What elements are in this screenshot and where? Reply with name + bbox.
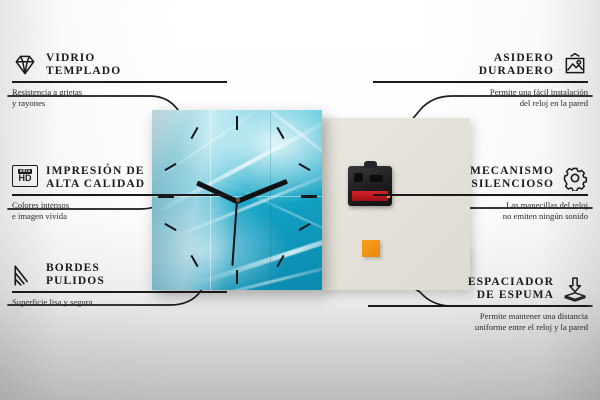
feature-rule [373, 194, 588, 196]
feature-desc-line1: Colores intensos [12, 200, 227, 211]
clock-center-cap [236, 198, 240, 202]
feature-rule [368, 305, 588, 307]
feature-espaciador-de-espuma: ESPACIADOR DE ESPUMA Permite mantener un… [368, 276, 588, 333]
feature-desc-line1: Superficie lisa y segura [12, 297, 227, 308]
feature-title-line2: ALTA CALIDAD [46, 178, 145, 191]
feature-rule [12, 81, 227, 83]
feature-desc-line1: Resistencia a grietas [12, 87, 227, 98]
feature-desc-line1: Permite mantener una distancia [368, 311, 588, 322]
clock-tick [236, 270, 238, 284]
feature-title-line1: ASIDERO [479, 52, 554, 65]
feature-desc-line2: y rayones [12, 98, 227, 109]
feature-title-line1: BORDES [46, 262, 105, 275]
feature-title-line2: PULIDOS [46, 275, 105, 288]
feature-desc-line2: del reloj en la pared [373, 98, 588, 109]
feature-title-line1: ESPACIADOR [468, 276, 554, 289]
ultra-hd-icon: ultraHD [12, 165, 38, 191]
feature-vidrio-templado: VIDRIO TEMPLADO Resistencia a grietas y … [12, 52, 227, 109]
feature-bordes-pulidos: BORDES PULIDOS Superficie lisa y segura [12, 262, 227, 308]
picture-hanger-icon [562, 52, 588, 78]
gear-icon [562, 165, 588, 191]
infographic-stage: VIDRIO TEMPLADO Resistencia a grietas y … [0, 0, 600, 400]
feature-title-line2: DURADERO [479, 65, 554, 78]
second-hand [231, 200, 238, 266]
feature-mecanismo-silencioso: MECANISMO SILENCIOSO Las manecillas del … [373, 165, 588, 222]
feature-rule [12, 194, 227, 196]
feature-rule [12, 291, 227, 293]
feature-desc-line1: Permite una fácil instalación [373, 87, 588, 98]
clock-tick [301, 195, 317, 198]
feature-desc-line2: uniforme entre el reloj y la pared [368, 322, 588, 333]
foam-spacer [362, 240, 380, 257]
feature-asidero-duradero: ASIDERO DURADERO Permite una fácil insta… [373, 52, 588, 109]
feature-impresion-alta-calidad: ultraHD IMPRESIÓN DE ALTA CALIDAD Colore… [12, 165, 227, 222]
feature-rule [373, 81, 588, 83]
feature-title-line1: IMPRESIÓN DE [46, 165, 145, 178]
feature-title-line2: SILENCIOSO [470, 178, 554, 191]
clock-tick [276, 127, 284, 139]
polished-edges-icon [12, 262, 38, 288]
feature-desc-line2: e imagen vívida [12, 211, 227, 222]
feature-desc-line1: Las manecillas del reloj [373, 200, 588, 211]
clock-tick [298, 223, 310, 231]
clock-tick [298, 163, 310, 171]
feature-title-line1: MECANISMO [470, 165, 554, 178]
feature-title-line2: DE ESPUMA [468, 289, 554, 302]
foam-spacer-icon [562, 276, 588, 302]
clock-tick [236, 116, 238, 130]
feature-title-line1: VIDRIO [46, 52, 121, 65]
feature-desc-line2: no emiten ningún sonido [373, 211, 588, 222]
feature-title-line2: TEMPLADO [46, 65, 121, 78]
diamond-icon [12, 52, 38, 78]
